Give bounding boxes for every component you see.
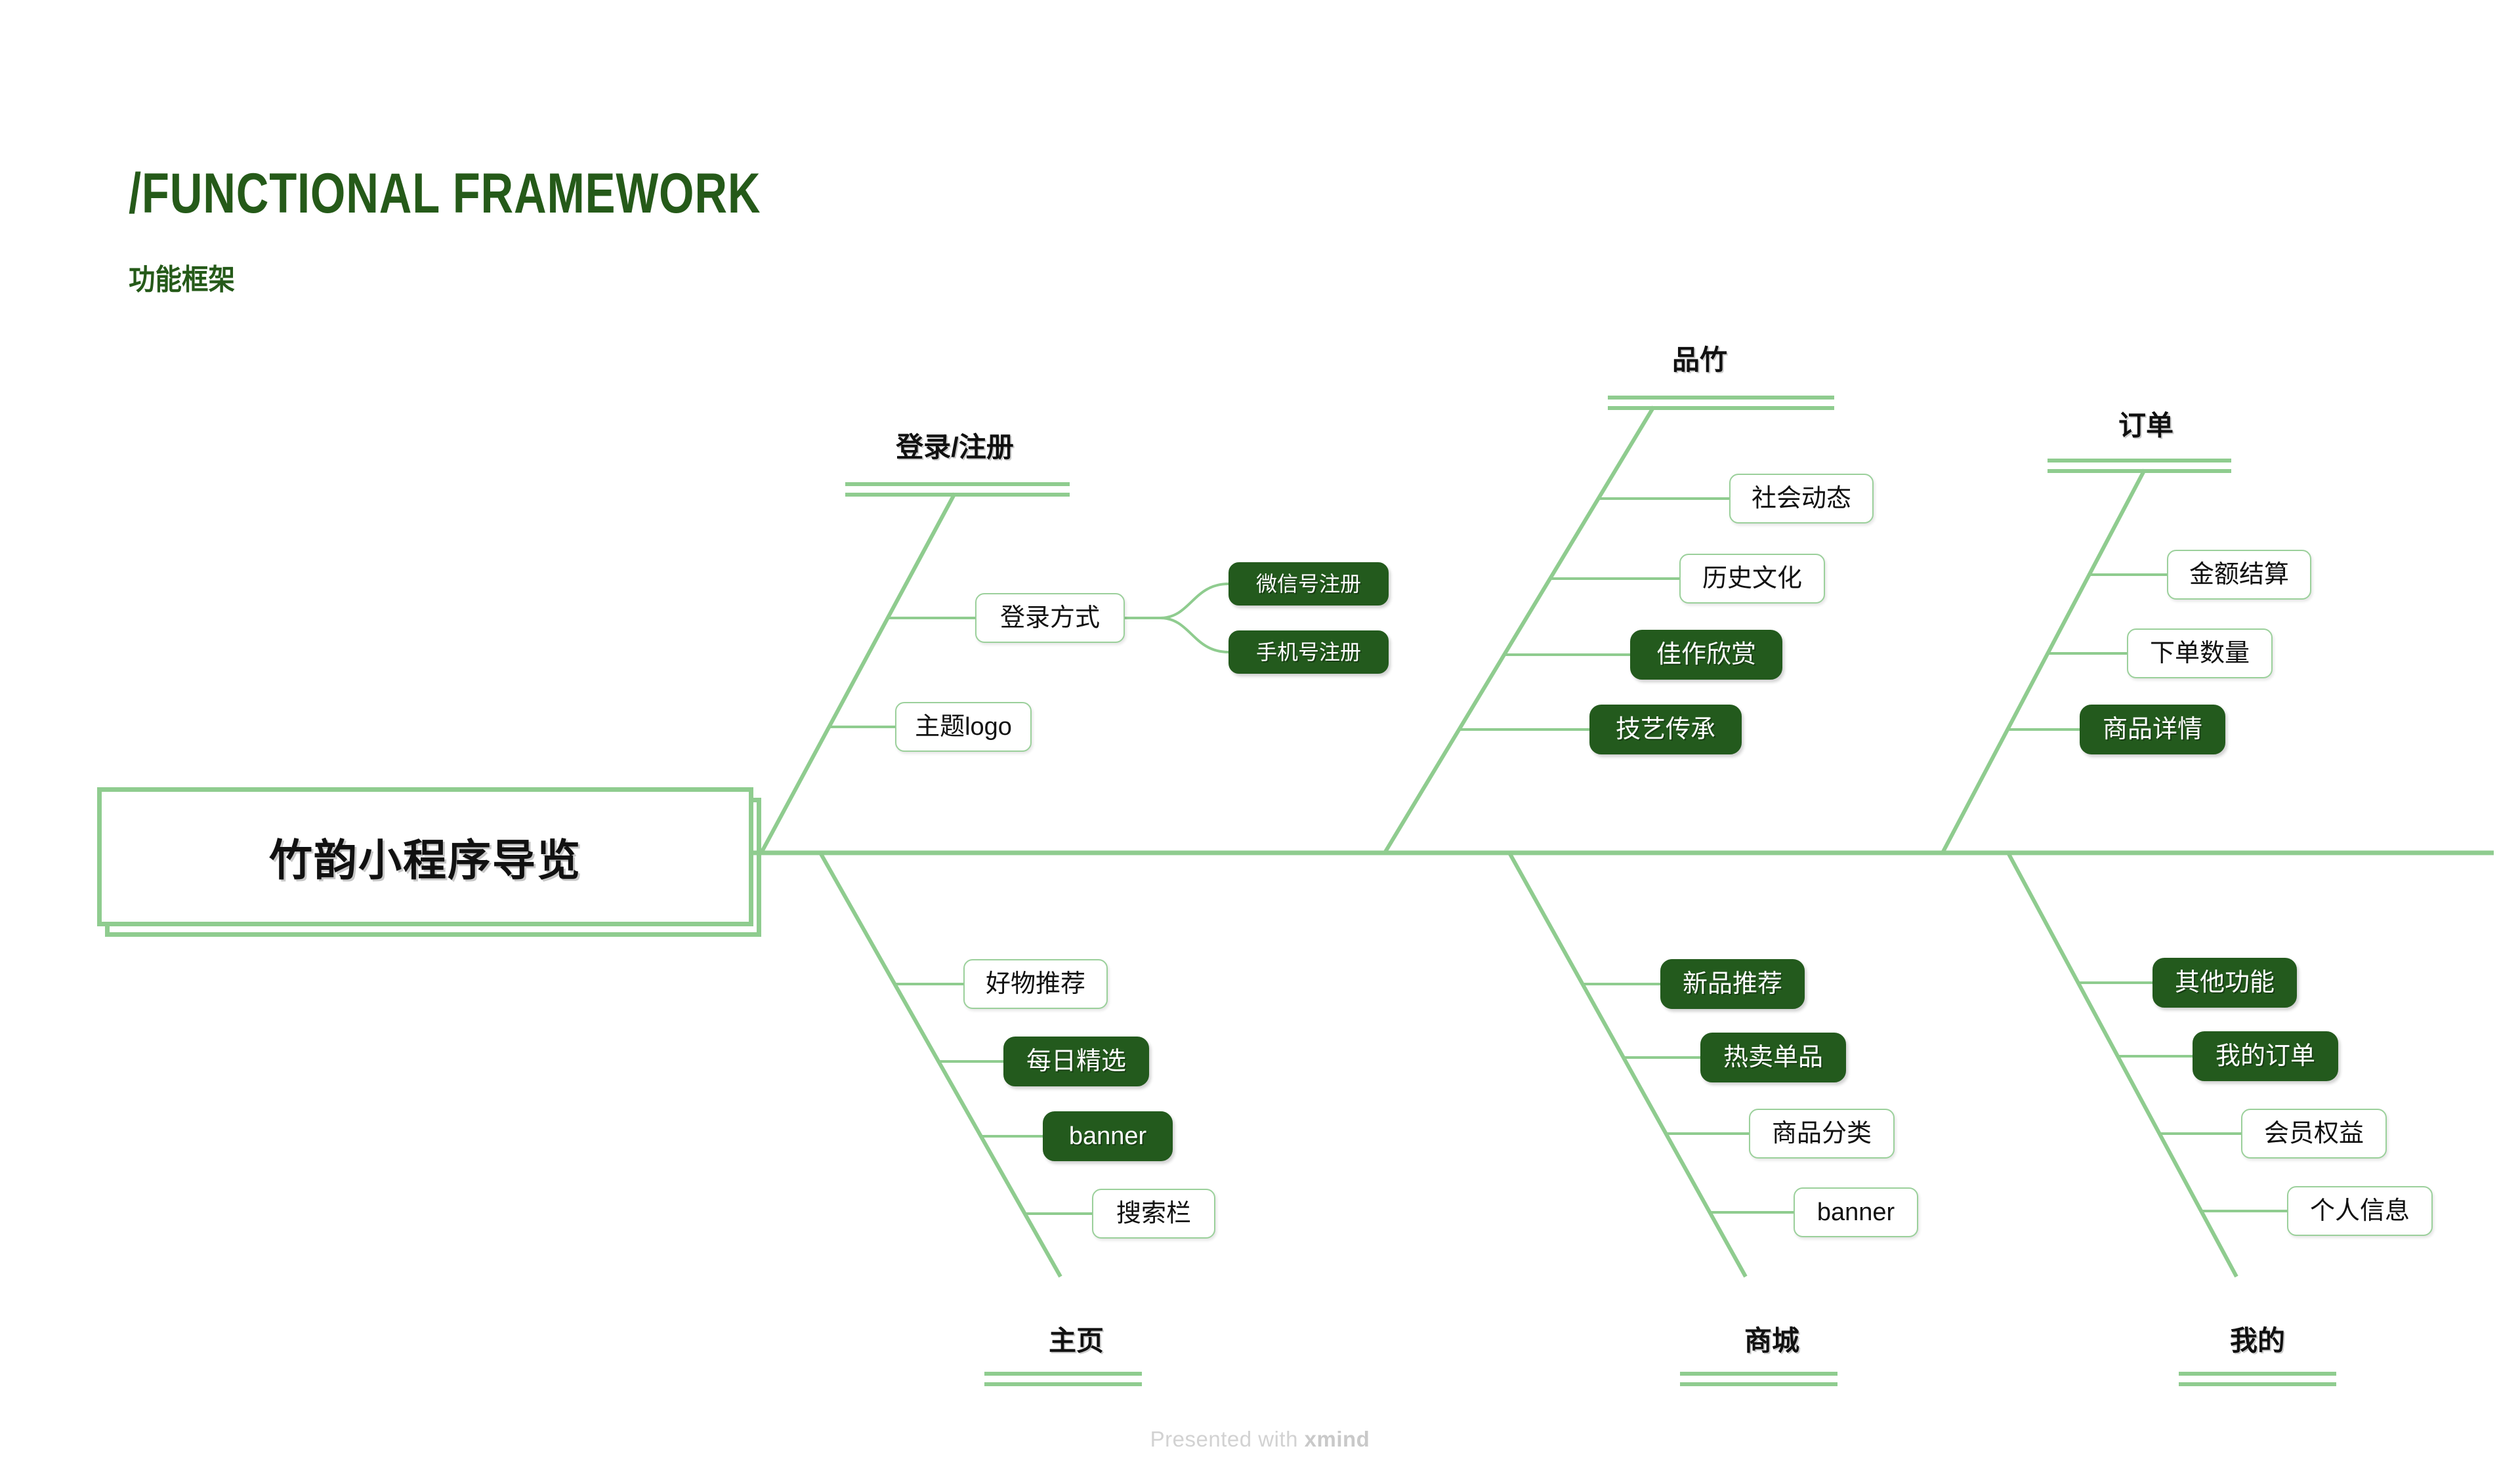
node-chip-label: 个人信息 [2310,1199,2410,1223]
node-chip-label: 下单数量 [2150,641,2250,666]
branch-heading-我的[interactable]: 我的 [2230,1319,2285,1359]
branch-rib-订单 [1942,470,2145,853]
node-chip-佳作欣赏[interactable]: 佳作欣赏 [1630,630,1782,680]
subnode-chip-label: 手机号注册 [1256,642,1361,663]
node-chip-label: 金额结算 [2189,562,2289,587]
root-node[interactable]: 竹韵小程序导览 [97,787,753,926]
node-chip-label: banner [1817,1200,1895,1225]
node-chip-label: 会员权益 [2264,1121,2364,1146]
xmind-watermark: Presented with xmind [1150,1427,1370,1452]
node-chip-登录方式[interactable]: 登录方式 [975,593,1125,643]
node-chip-banner[interactable]: banner [1043,1111,1173,1161]
subnode-curve-手机号注册 [1125,618,1228,652]
node-chip-label: 搜索栏 [1116,1201,1191,1226]
watermark-prefix: Presented with [1150,1427,1305,1451]
node-chip-个人信息[interactable]: 个人信息 [2287,1186,2433,1236]
branch-heading-订单[interactable]: 订单 [2118,403,2173,443]
node-chip-技艺传承[interactable]: 技艺传承 [1589,705,1742,754]
fishbone-diagram-canvas: /FUNCTIONAL FRAMEWORK 功能框架 竹韵小程序导览 登录/注册… [0,0,2520,1480]
node-chip-label: 新品推荐 [1683,972,1782,997]
node-chip-历史文化[interactable]: 历史文化 [1679,554,1825,604]
branch-heading-主页[interactable]: 主页 [1049,1319,1104,1359]
node-chip-label: 历史文化 [1702,566,1802,591]
node-chip-下单数量[interactable]: 下单数量 [2127,628,2273,678]
node-chip-label: 主题logo [915,714,1012,739]
watermark-brand: xmind [1305,1427,1370,1451]
node-chip-每日精选[interactable]: 每日精选 [1003,1037,1149,1086]
node-chip-label: banner [1069,1124,1146,1149]
node-chip-我的订单[interactable]: 我的订单 [2193,1031,2338,1081]
node-chip-其他功能[interactable]: 其他功能 [2152,958,2297,1008]
node-chip-label: 其他功能 [2175,970,2275,995]
node-chip-label: 技艺传承 [1616,717,1715,742]
node-chip-label: 热卖单品 [1723,1045,1823,1070]
node-chip-新品推荐[interactable]: 新品推荐 [1660,959,1805,1009]
node-chip-热卖单品[interactable]: 热卖单品 [1700,1033,1846,1082]
node-chip-金额结算[interactable]: 金额结算 [2167,550,2311,600]
node-chip-label: 我的订单 [2215,1044,2315,1069]
node-chip-社会动态[interactable]: 社会动态 [1729,474,1874,524]
node-chip-label: 佳作欣赏 [1656,642,1756,667]
branch-rib-品竹 [1385,407,1654,853]
branch-heading-登录/注册[interactable]: 登录/注册 [896,425,1014,465]
node-chip-banner[interactable]: banner [1794,1187,1918,1237]
node-chip-主题logo[interactable]: 主题logo [895,702,1032,752]
node-chip-商品分类[interactable]: 商品分类 [1749,1109,1895,1159]
branch-heading-品竹[interactable]: 品竹 [1672,338,1727,378]
node-chip-label: 商品详情 [2103,717,2202,742]
node-chip-好物推荐[interactable]: 好物推荐 [963,959,1108,1009]
node-chip-商品详情[interactable]: 商品详情 [2080,705,2225,754]
root-node-label: 竹韵小程序导览 [269,825,581,888]
subnode-curve-微信号注册 [1125,584,1228,618]
subnode-chip-label: 微信号注册 [1256,573,1361,594]
subnode-chip-微信号注册[interactable]: 微信号注册 [1228,562,1389,606]
branch-heading-商城[interactable]: 商城 [1744,1319,1799,1359]
node-chip-label: 登录方式 [1000,606,1100,630]
node-chip-label: 每日精选 [1026,1049,1126,1074]
subnode-chip-手机号注册[interactable]: 手机号注册 [1228,630,1389,674]
node-chip-label: 社会动态 [1752,486,1851,511]
node-chip-label: 商品分类 [1772,1121,1872,1146]
node-chip-label: 好物推荐 [986,972,1085,997]
node-chip-会员权益[interactable]: 会员权益 [2241,1109,2387,1159]
branch-rib-登录/注册 [761,493,955,853]
node-chip-搜索栏[interactable]: 搜索栏 [1092,1189,1215,1239]
